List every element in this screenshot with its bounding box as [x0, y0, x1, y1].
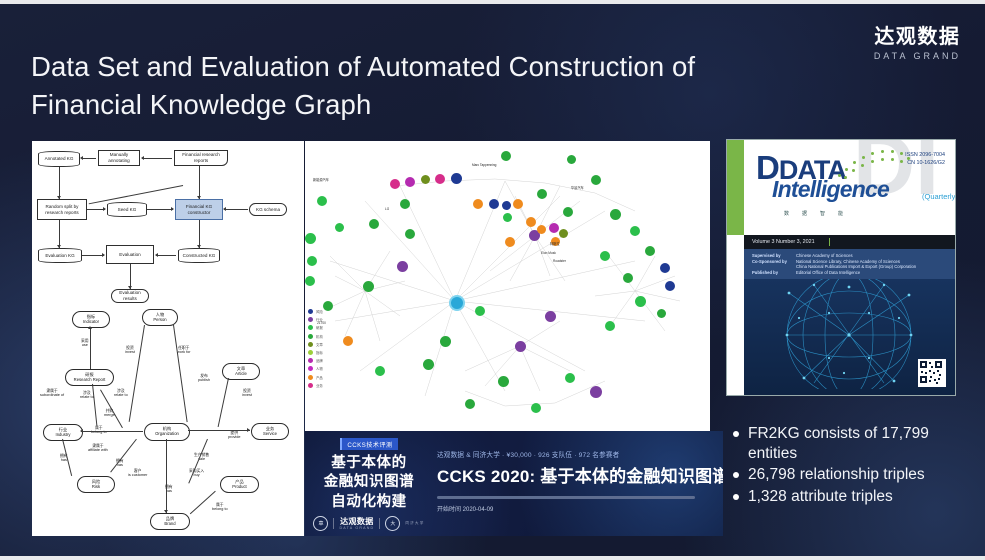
- kg-node: [390, 179, 400, 189]
- legend-swatch: [308, 334, 313, 339]
- onto-edge: [173, 325, 187, 422]
- flow-node-annotated-kg: Annotated KG: [38, 151, 80, 167]
- onto-node-product: 产品 Product: [220, 476, 259, 493]
- kg-node: [502, 201, 511, 210]
- flow-node-kg-schema: KG schema: [249, 203, 287, 216]
- flow-arrow: [57, 196, 61, 199]
- onto-node-industry: 行业 Industry: [43, 424, 83, 441]
- flow-arrow: [223, 207, 226, 211]
- kg-node: [563, 207, 573, 217]
- flow-edge: [82, 158, 96, 159]
- knowledge-graph-panel: Marc Tappenning LG 21700 特斯拉 Elon Musk R…: [305, 141, 710, 431]
- kg-node-label: Marc Tappenning: [472, 163, 496, 167]
- kg-node: [475, 306, 485, 316]
- journal-masthead: DI DDATA Intelligence (Quarterly) ISSN 2…: [744, 140, 955, 235]
- ccks-title: CCKS 2020: 基于本体的金融知识图谱: [437, 462, 717, 487]
- kg-node: [515, 341, 526, 352]
- kg-node: [397, 261, 408, 272]
- flow-node-financial-research-reports: Financial research reports: [174, 150, 228, 166]
- brand-logo-en: DATA GRAND: [874, 51, 961, 61]
- kg-node: [567, 155, 576, 164]
- kg-node: [305, 276, 315, 286]
- list-item: 1,328 attribute triples: [733, 487, 973, 507]
- ccks-headline-2: 金融知识图谱: [305, 474, 433, 491]
- flow-node-random-split: Random split by research reports: [37, 199, 87, 220]
- kg-node-label: LG: [385, 207, 389, 211]
- flow-edge: [224, 209, 248, 210]
- flow-arrow: [103, 207, 106, 211]
- journal-globe-graphic: [744, 279, 955, 395]
- legend-swatch: [308, 317, 313, 322]
- journal-green-bar: [727, 140, 744, 235]
- kg-node: [335, 223, 344, 232]
- flow-arrow: [80, 156, 83, 160]
- flow-arrow: [155, 253, 158, 257]
- onto-arrow: [88, 326, 92, 329]
- divider: [333, 518, 334, 529]
- flow-arrow: [141, 156, 144, 160]
- ccks-headline-3: 自动化构建: [305, 494, 433, 511]
- legend-item: 行业: [308, 317, 323, 322]
- legend-swatch: [308, 358, 313, 363]
- onto-edge-label: 属于belong to: [212, 503, 228, 512]
- legend-label: 人物: [316, 366, 323, 371]
- kg-node: [317, 196, 327, 206]
- kg-node: [537, 189, 547, 199]
- onto-edge-label: 生产销售sale: [194, 453, 209, 462]
- onto-arrow: [80, 429, 83, 433]
- onto-edge: [166, 439, 167, 513]
- bullet-dot-icon: [733, 472, 739, 478]
- flow-edge: [156, 255, 176, 256]
- kg-node: [559, 229, 568, 238]
- brand-logo-cn: 达观数据: [874, 26, 961, 48]
- ccks-headline-1: 基于本体的: [305, 455, 433, 472]
- legend-item: 业务: [308, 383, 323, 388]
- kg-node: [405, 177, 415, 187]
- onto-node-risk: 风险 Risk: [77, 476, 115, 493]
- legend-item: 机构: [308, 334, 323, 339]
- flow-node-evaluation-results: Evaluation results: [111, 289, 149, 303]
- kg-node: [505, 237, 515, 247]
- university-seal-icon: 大: [385, 516, 400, 531]
- legend-swatch: [308, 366, 313, 371]
- onto-edge: [218, 378, 229, 427]
- flow-node-evaluation: Evaluation: [106, 245, 154, 264]
- legend-item: 指标: [308, 350, 323, 355]
- kg-node: [549, 223, 559, 233]
- legend-swatch: [308, 350, 313, 355]
- list-item: FR2KG consists of 17,799 entities: [733, 424, 973, 463]
- flow-arrow: [171, 207, 174, 211]
- flow-node-financial-kg-constructor: Financial KG constructor: [175, 199, 223, 220]
- kg-node: [503, 213, 512, 222]
- onto-edge-label: 发布publish: [198, 374, 210, 383]
- qr-code[interactable]: [918, 359, 946, 387]
- legend-label: 机构: [316, 334, 323, 339]
- kg-node: [473, 199, 483, 209]
- journal-volume-bar: Volume 3 Number 3, 2021: [744, 235, 955, 249]
- kg-node: [305, 233, 316, 244]
- diagram-panel-left: Annotated KG Manually annotating Financi…: [32, 141, 304, 536]
- onto-edge: [90, 327, 91, 369]
- flow-arrow: [102, 253, 105, 257]
- flow-edge: [59, 167, 60, 199]
- onto-edge-label: 隶属于affiliate with: [88, 444, 108, 453]
- flow-edge: [82, 255, 104, 256]
- kg-node: [635, 296, 646, 307]
- legend-label: 风险: [316, 309, 323, 314]
- kg-node: [565, 373, 575, 383]
- journal-chinese-subtitle: 数据智能: [784, 210, 843, 217]
- ccks-start-date: 开始时间 2020-04-09: [437, 504, 717, 513]
- kg-node: [451, 173, 462, 184]
- bullet-dot-icon: [733, 494, 739, 500]
- flow-arrow: [57, 245, 61, 248]
- kg-node: [590, 386, 602, 398]
- legend-item: 产品: [308, 375, 323, 380]
- flow-edge: [59, 220, 60, 248]
- onto-edge-label: 涉及relate to: [80, 391, 94, 400]
- slide-canvas: Data Set and Evaluation of Automated Con…: [0, 4, 985, 556]
- onto-node-brand: 品牌 Brand: [150, 513, 190, 530]
- kg-node: [657, 309, 666, 318]
- ccks-subtitle: 达观数据 & 同济大学 · ¥30,000 · 926 支队伍 · 972 名参…: [437, 449, 717, 459]
- kg-node: [600, 251, 610, 261]
- kg-node: [489, 199, 499, 209]
- legend-label: 业务: [316, 383, 323, 388]
- onto-edge-label: 投资invest: [125, 346, 135, 355]
- kg-node: [605, 321, 615, 331]
- flow-edge: [89, 185, 183, 204]
- kg-node: [545, 311, 556, 322]
- flow-edge: [147, 209, 173, 210]
- university-name: 同济大学: [405, 521, 424, 526]
- onto-edge: [81, 431, 143, 432]
- journal-quarterly: (Quarterly): [922, 192, 955, 201]
- onto-node-person: 人物 Person: [142, 309, 178, 326]
- seal-icon: 章: [313, 516, 328, 531]
- onto-edge-label: 隶属于subordinate of: [40, 389, 64, 398]
- stats-bullet-list: FR2KG consists of 17,799 entities 26,798…: [733, 424, 973, 508]
- onto-edge: [92, 384, 97, 426]
- legend-label: 品牌: [316, 358, 323, 363]
- onto-edge-label: 涉及relate to: [114, 389, 128, 398]
- kg-node: [400, 199, 410, 209]
- flow-node-seed-kg: Seed KG: [107, 202, 147, 217]
- onto-arrow: [164, 510, 168, 513]
- ccks-banner-left: CCKS技术评测 基于本体的 金融知识图谱 自动化构建 章 达观数据 DATA …: [305, 431, 433, 536]
- legend-swatch: [308, 325, 313, 330]
- kg-node: [526, 217, 536, 227]
- kg-node: [623, 273, 633, 283]
- legend-item: 文章: [308, 342, 323, 347]
- kg-node: [591, 175, 601, 185]
- onto-node-research-report: 研报 Research Report: [65, 369, 114, 386]
- kg-legend: 风险 行业 研报 机构 文章 指标 品牌 人物 产品 业务: [308, 309, 323, 391]
- flow-arrow: [197, 196, 201, 199]
- kg-node: [375, 366, 385, 376]
- legend-item: 人物: [308, 366, 323, 371]
- kg-node-label: 特斯拉: [550, 241, 560, 246]
- onto-edge: [129, 325, 145, 422]
- ccks-tag-badge: CCKS技术评测: [340, 438, 397, 450]
- onto-edge-label: 提供provide: [228, 431, 240, 440]
- list-item: 26,798 relationship triples: [733, 465, 973, 485]
- flow-edge: [199, 166, 200, 199]
- bullet-dot-icon: [733, 431, 739, 437]
- kg-node-label: Roadster: [553, 259, 566, 263]
- kg-node: [513, 199, 523, 209]
- legend-swatch: [308, 375, 313, 380]
- divider: [379, 518, 380, 529]
- onto-edge: [188, 430, 250, 431]
- journal-cover: DI DDATA Intelligence (Quarterly) ISSN 2…: [727, 140, 955, 395]
- flow-arrow: [128, 286, 132, 289]
- kg-node-label: 华晨汽车: [571, 185, 584, 190]
- legend-label: 研报: [316, 325, 323, 330]
- kg-node: [440, 336, 451, 347]
- onto-edge-label: 任职于work for: [177, 346, 191, 355]
- flow-edge: [142, 158, 172, 159]
- legend-label: 指标: [316, 350, 323, 355]
- legend-item: 研报: [308, 325, 323, 330]
- legend-label: 行业: [316, 317, 323, 322]
- legend-label: 文章: [316, 342, 323, 347]
- ccks-banner: CCKS技术评测 基于本体的 金融知识图谱 自动化构建 章 达观数据 DATA …: [305, 431, 723, 536]
- onto-edge-label: 投资invest: [242, 389, 252, 398]
- brand-logo: 达观数据 DATA GRAND: [874, 26, 961, 61]
- journal-wordmark-intelligence: Intelligence: [772, 178, 889, 201]
- flow-arrow: [197, 245, 201, 248]
- kg-node: [498, 376, 509, 387]
- legend-swatch: [308, 309, 313, 314]
- kg-node-label: 新能源汽车: [313, 177, 329, 182]
- onto-node-organization: 机构 Organization: [144, 423, 190, 441]
- legend-item: 品牌: [308, 358, 323, 363]
- ccks-logo-row: 章 达观数据 DATA GRAND 大 同济大学: [305, 516, 433, 531]
- kg-node: [610, 209, 621, 220]
- flow-node-manually-annotating: Manually annotating: [98, 150, 140, 166]
- credit-row: Published byEditorial Office of Data Int…: [752, 270, 955, 276]
- legend-item: 风险: [308, 309, 323, 314]
- journal-dot-arc: [836, 148, 912, 178]
- flow-node-constructed-kg: Constructed KG: [178, 248, 220, 263]
- kg-node: [630, 226, 640, 236]
- datagrand-logo: 达观数据 DATA GRAND: [339, 517, 374, 530]
- kg-node: [423, 359, 434, 370]
- kg-node: [465, 399, 475, 409]
- ccks-progress-bar: [437, 496, 695, 499]
- kg-node: [421, 175, 430, 184]
- kg-node: [323, 301, 333, 311]
- kg-node: [449, 295, 465, 311]
- onto-edge-label: 客户is customer: [128, 469, 147, 478]
- kg-node: [343, 336, 353, 346]
- kg-node: [501, 151, 511, 161]
- kg-node: [665, 281, 675, 291]
- onto-arrow: [247, 428, 250, 432]
- legend-label: 产品: [316, 375, 323, 380]
- kg-node: [369, 219, 379, 229]
- legend-swatch: [308, 383, 313, 388]
- onto-edge-label: 采用use: [81, 339, 89, 348]
- kg-node-label: Elon Musk: [541, 251, 556, 255]
- kg-node: [307, 256, 317, 266]
- kg-node: [363, 281, 374, 292]
- legend-swatch: [308, 342, 313, 347]
- page-title: Data Set and Evaluation of Automated Con…: [31, 48, 801, 124]
- kg-node: [405, 229, 415, 239]
- journal-credits: Supervised byChinese Academy of Sciences…: [744, 249, 955, 279]
- kg-node: [537, 225, 546, 234]
- ccks-banner-right: 达观数据 & 同济大学 · ¥30,000 · 926 支队伍 · 972 名参…: [437, 449, 717, 513]
- kg-node: [660, 263, 670, 273]
- flow-node-evaluation-kg: Evaluation KG: [38, 248, 82, 263]
- kg-node: [435, 174, 445, 184]
- onto-node-service: 业务 Service: [251, 423, 289, 440]
- kg-node: [645, 246, 655, 256]
- flow-edge: [199, 220, 200, 248]
- kg-node: [531, 403, 541, 413]
